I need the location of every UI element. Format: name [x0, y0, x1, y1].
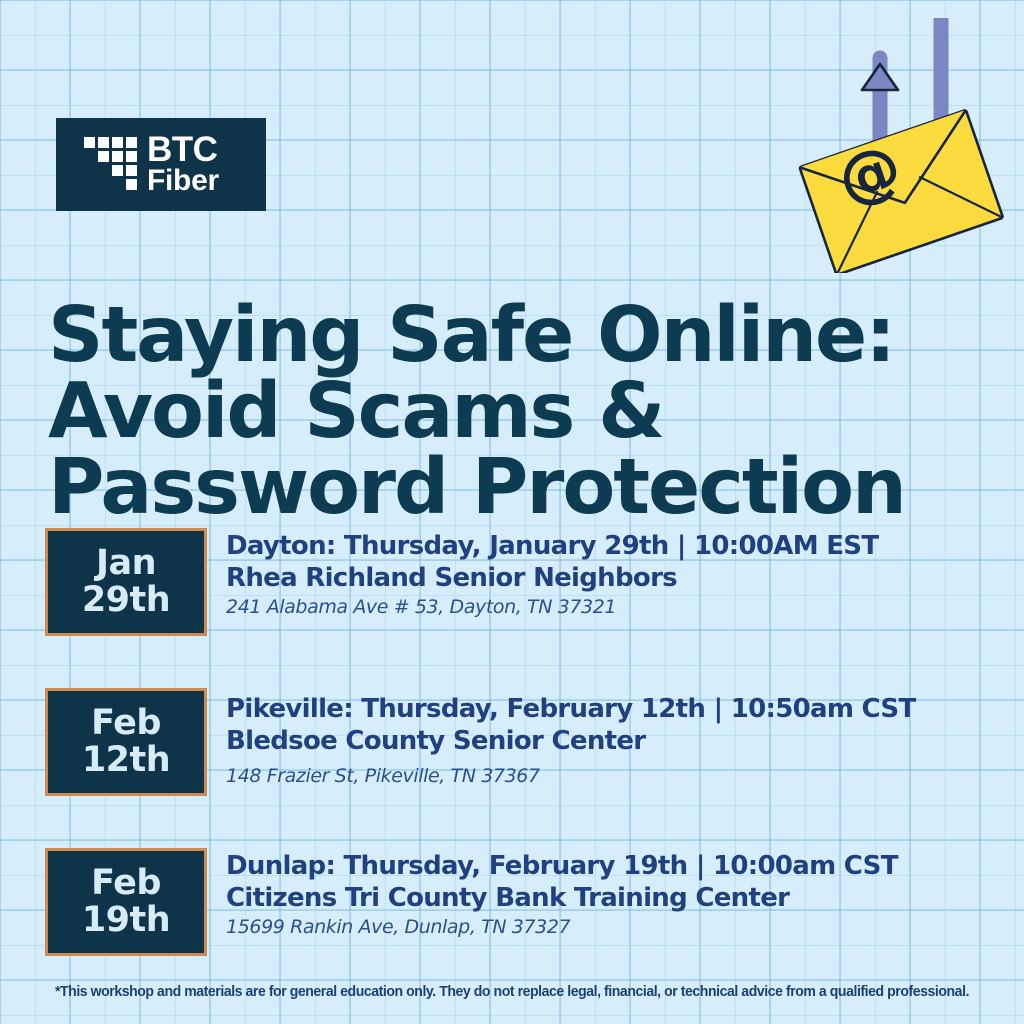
badge-day: 29th — [82, 582, 170, 619]
date-badge: Feb 19th — [45, 848, 207, 956]
event-headline: Dayton: Thursday, January 29th | 10:00AM… — [226, 531, 981, 563]
event-details: Dayton: Thursday, January 29th | 10:00AM… — [226, 531, 981, 621]
event-list: Jan 29th Dayton: Thursday, January 29th … — [45, 528, 985, 1008]
event-address: 148 Frazier St, Pikeville, TN 37367 — [226, 764, 981, 790]
event-details: Pikeville: Thursday, February 12th | 10:… — [226, 694, 981, 790]
event-datetime: Thursday, February 19th | 10:00am CST — [335, 851, 898, 881]
event-address: 241 Alabama Ave # 53, Dayton, TN 37321 — [226, 595, 981, 621]
phishing-illustration: @ — [788, 18, 1018, 273]
badge-month: Jan — [96, 545, 156, 582]
event-details: Dunlap: Thursday, February 19th | 10:00a… — [226, 851, 981, 941]
event-item: Feb 12th Pikeville: Thursday, February 1… — [45, 688, 985, 848]
btc-fiber-logo[interactable]: BTC Fiber — [56, 118, 266, 211]
disclaimer-text: *This workshop and materials are for gen… — [15, 984, 1008, 1000]
event-item: Jan 29th Dayton: Thursday, January 29th … — [45, 528, 985, 688]
title-line-2: Avoid Scams & — [48, 374, 948, 450]
event-address: 15699 Rankin Ave, Dunlap, TN 37327 — [226, 915, 981, 941]
event-datetime: Thursday, February 12th | 10:50am CST — [353, 694, 916, 724]
event-city: Dunlap: — [226, 851, 335, 881]
event-city: Dayton: — [226, 531, 336, 561]
logo-text-fiber: Fiber — [147, 167, 219, 195]
badge-day: 19th — [82, 902, 170, 939]
event-venue: Bledsoe County Senior Center — [226, 726, 981, 758]
badge-day: 12th — [82, 742, 170, 779]
event-venue: Rhea Richland Senior Neighbors — [226, 563, 981, 595]
event-headline: Dunlap: Thursday, February 19th | 10:00a… — [226, 851, 981, 883]
page-title: Staying Safe Online: Avoid Scams & Passw… — [48, 298, 948, 527]
date-badge: Feb 12th — [45, 688, 207, 796]
badge-month: Feb — [91, 705, 161, 742]
event-city: Pikeville: — [226, 694, 353, 724]
envelope-icon: @ — [797, 102, 1003, 273]
poster-canvas: BTC Fiber @ Staying Safe Onl — [0, 0, 1024, 1024]
badge-month: Feb — [91, 865, 161, 902]
event-datetime: Thursday, January 29th | 10:00AM EST — [336, 531, 879, 561]
logo-text-btc: BTC — [147, 134, 219, 167]
pixel-staircase-icon — [84, 137, 136, 193]
event-headline: Pikeville: Thursday, February 12th | 10:… — [226, 694, 981, 726]
event-venue: Citizens Tri County Bank Training Center — [226, 883, 981, 915]
title-line-3: Password Protection — [48, 450, 948, 526]
date-badge: Jan 29th — [45, 528, 207, 636]
logo-wordmark: BTC Fiber — [147, 134, 219, 195]
title-line-1: Staying Safe Online: — [48, 298, 948, 374]
